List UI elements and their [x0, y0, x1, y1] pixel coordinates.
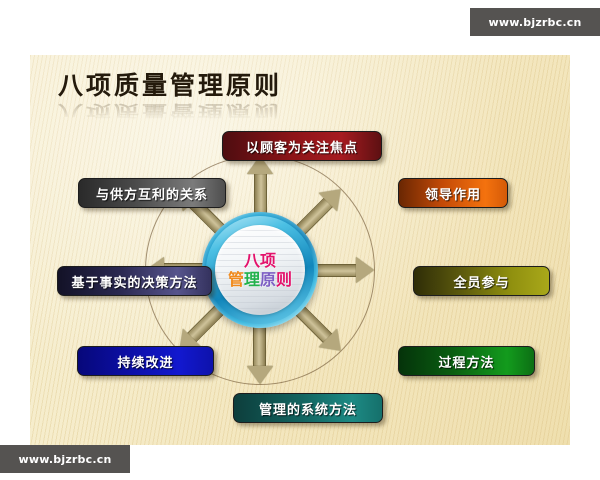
principle-label: 与供方互利的关系 [96, 184, 208, 203]
hub-line-2: 管理原则 [228, 271, 292, 289]
watermark-top-right: www.bjzrbc.cn [470, 8, 600, 36]
principle-box-supplier-relations[interactable]: 与供方互利的关系 [78, 178, 226, 208]
principle-label: 过程方法 [438, 352, 494, 371]
hub-face: 八项 管理原则 [215, 225, 305, 315]
slide-canvas: 八项质量管理原则 八项质量管理原则 八项 管理原则 以顾客 [0, 0, 600, 480]
page-title: 八项质量管理原则 [58, 71, 388, 101]
principle-label: 全员参与 [453, 272, 509, 291]
principle-label: 以顾客为关注焦点 [246, 137, 358, 156]
watermark-bottom-left: www.bjzrbc.cn [0, 445, 130, 473]
hub-line-1: 八项 [244, 252, 276, 270]
principle-label: 持续改进 [117, 352, 173, 371]
page-title-reflection: 八项质量管理原则 [58, 101, 388, 120]
watermark-text: www.bjzrbc.cn [19, 453, 112, 466]
principle-box-process-approach[interactable]: 过程方法 [398, 346, 535, 376]
slide-background: 八项质量管理原则 八项质量管理原则 八项 管理原则 以顾客 [30, 55, 570, 445]
principle-label: 领导作用 [425, 184, 481, 203]
slide-title-block: 八项质量管理原则 八项质量管理原则 [58, 71, 388, 135]
principle-box-system-approach[interactable]: 管理的系统方法 [233, 393, 383, 423]
principle-label: 管理的系统方法 [259, 399, 357, 418]
principle-label: 基于事实的决策方法 [71, 272, 197, 291]
principle-box-involvement-of-people[interactable]: 全员参与 [413, 266, 550, 296]
principle-box-leadership[interactable]: 领导作用 [398, 178, 508, 208]
principle-box-factual-decisions[interactable]: 基于事实的决策方法 [57, 266, 212, 296]
watermark-text: www.bjzrbc.cn [489, 16, 582, 29]
principle-box-customer-focus[interactable]: 以顾客为关注焦点 [222, 131, 382, 161]
principle-box-continual-improvement[interactable]: 持续改进 [77, 346, 214, 376]
